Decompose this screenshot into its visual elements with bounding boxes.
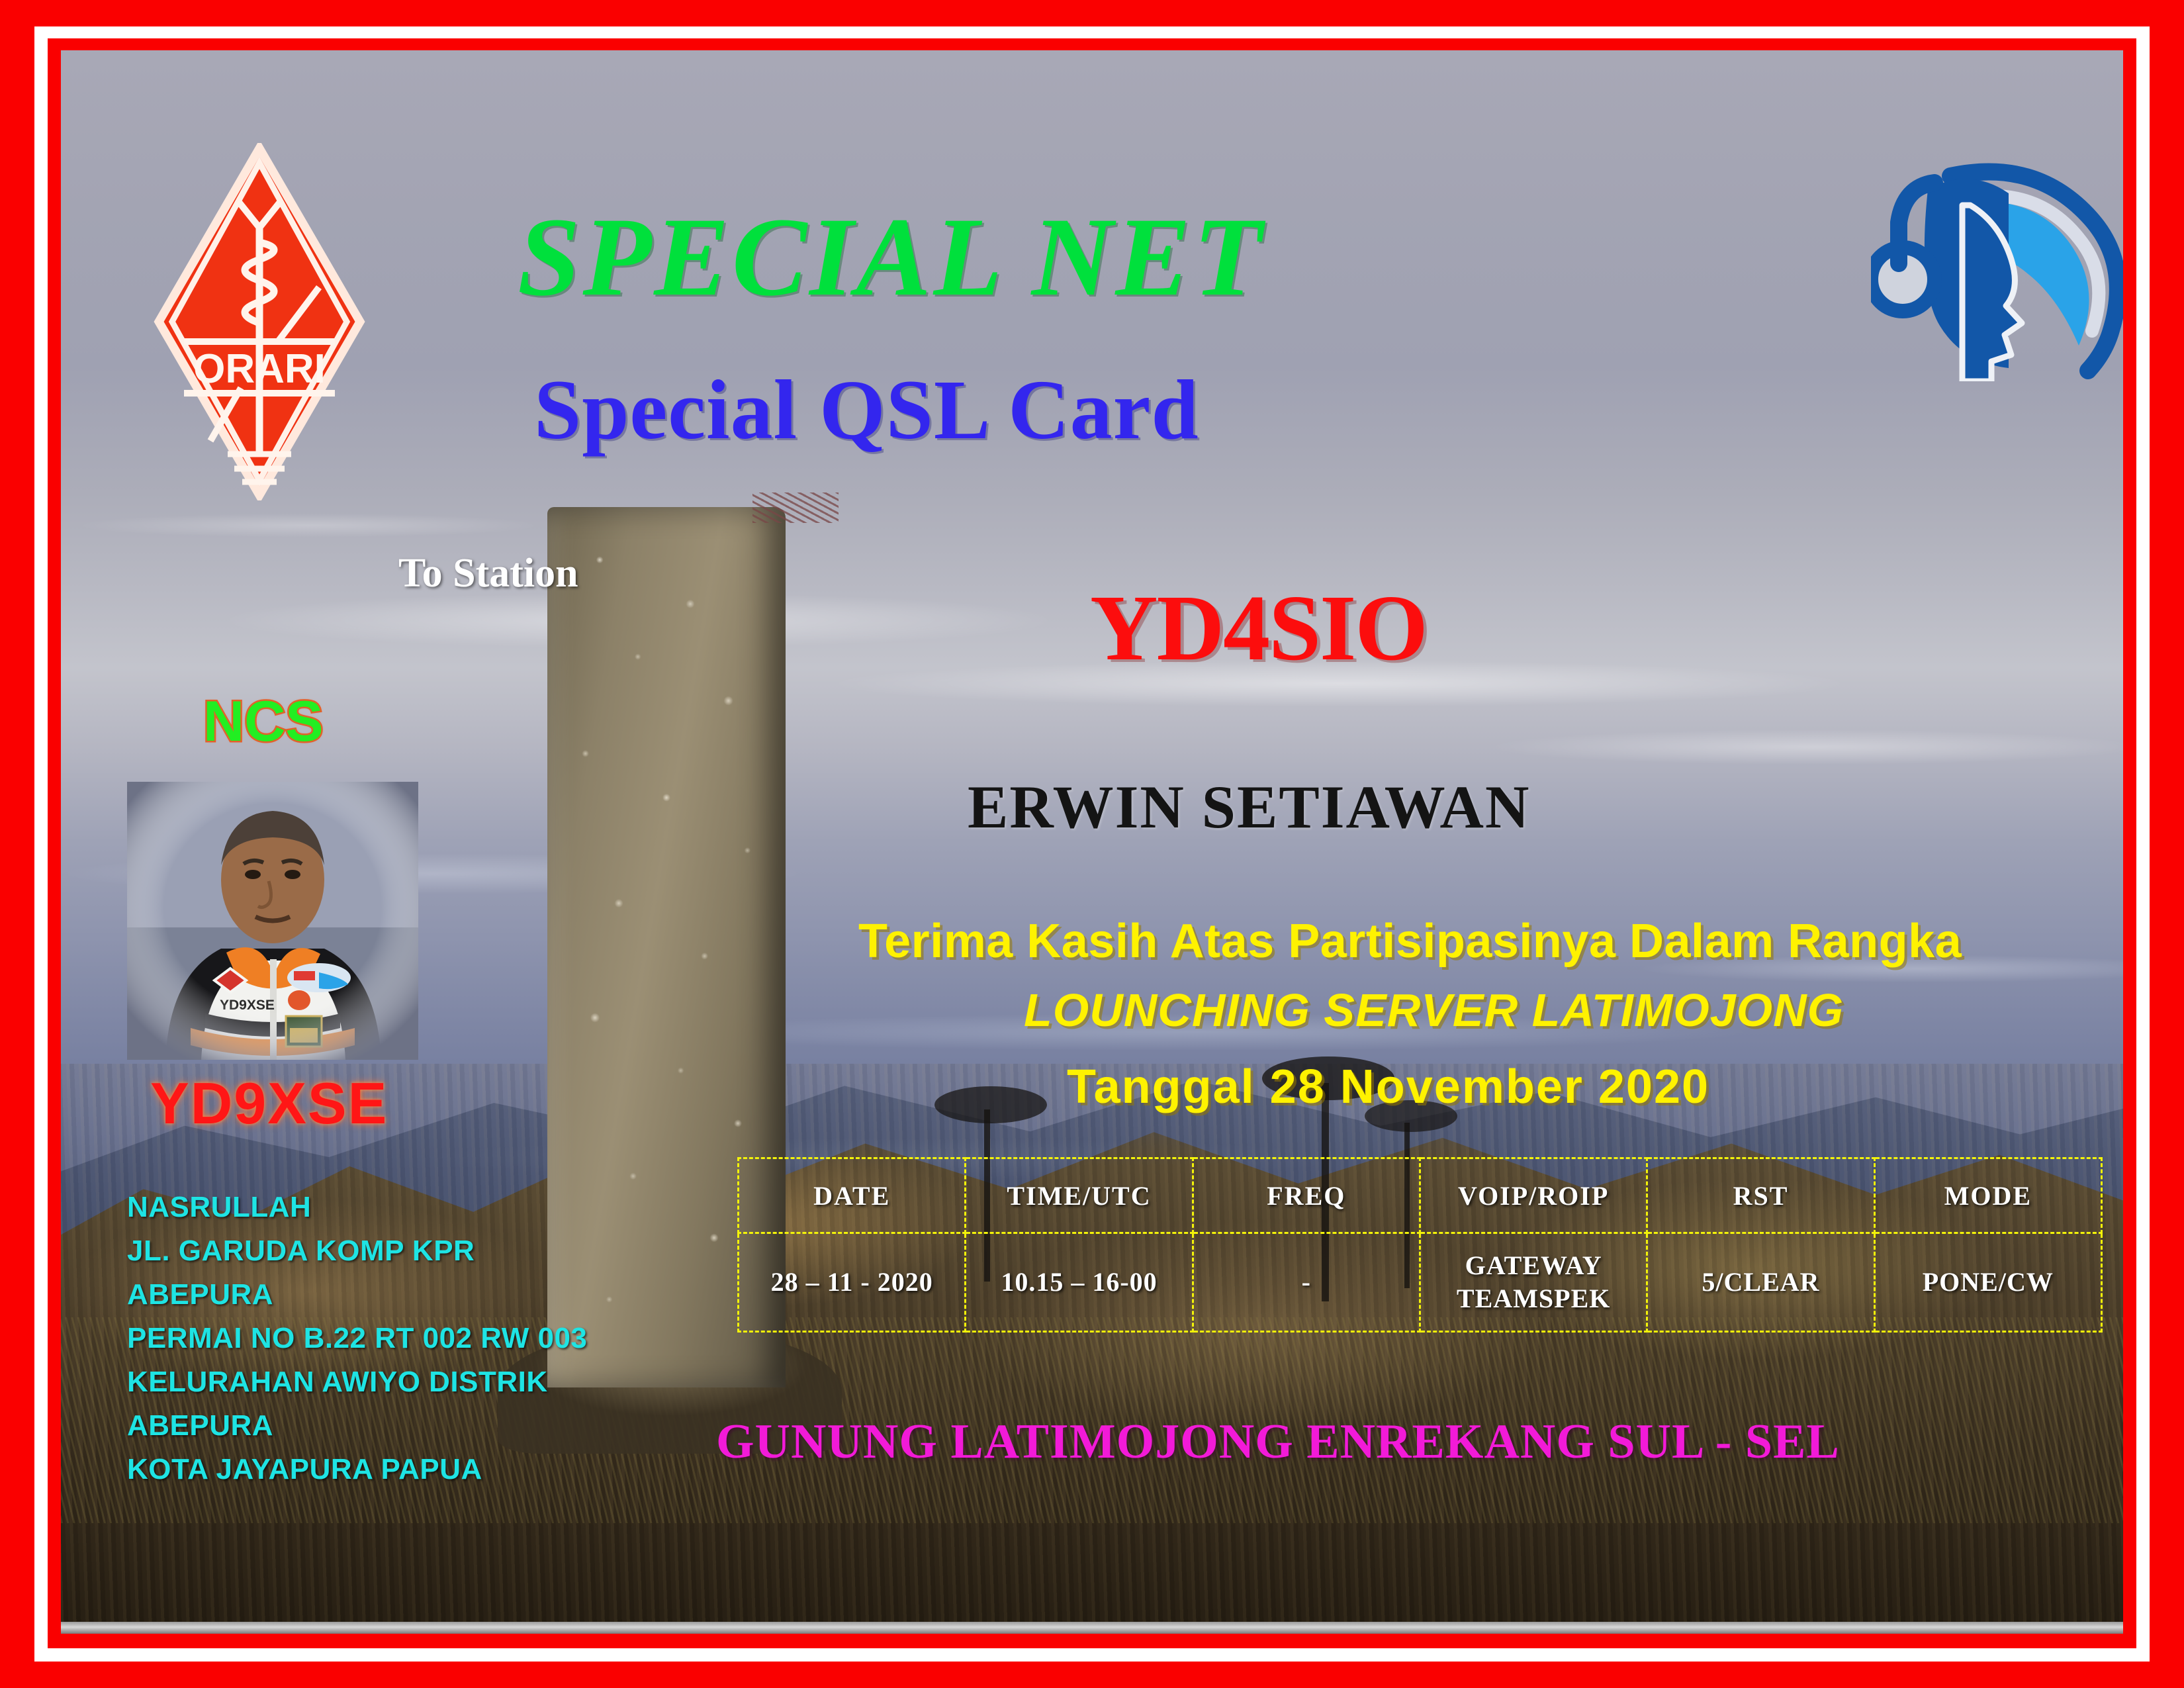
ncs-address-block: NASRULLAHJL. GARUDA KOMP KPRABEPURAPERMA… xyxy=(127,1186,683,1491)
qso-table-cell: - xyxy=(1193,1233,1420,1332)
qso-table-header-cell: DATE xyxy=(739,1158,966,1233)
qso-table-header-cell: VOIP/ROIP xyxy=(1420,1158,1647,1233)
thanks-line-1: Terima Kasih Atas Partisipasinya Dalam R… xyxy=(858,914,1962,968)
orari-logo-text: ORARI xyxy=(193,346,326,392)
address-line: ABEPURA xyxy=(127,1404,683,1448)
qso-table-header-cell: MODE xyxy=(1874,1158,2101,1233)
ncs-callsign: YD9XSE xyxy=(150,1070,388,1137)
qso-table-cell: 5/CLEAR xyxy=(1647,1233,1874,1332)
location-label: GUNUNG LATIMOJONG ENREKANG SUL - SEL xyxy=(716,1414,1840,1470)
cairn-wisp xyxy=(752,492,839,523)
station-callsign: YD4SIO xyxy=(1090,573,1427,682)
operator-name: ERWIN SETIAWAN xyxy=(968,772,1530,842)
orari-logo: ORARI xyxy=(154,143,365,500)
qso-table-header-row: DATETIME/UTCFREQVOIP/ROIPRSTMODE xyxy=(739,1158,2102,1233)
page-title: SPECIAL NET xyxy=(518,193,1265,322)
address-line: NASRULLAH xyxy=(127,1186,683,1229)
net-logo xyxy=(1871,150,2123,381)
qso-table-cell: PONE/CW xyxy=(1874,1233,2101,1332)
thanks-line-2: LOUNCHING SERVER LATIMOJONG xyxy=(1024,984,1844,1037)
bottom-gloss-strip xyxy=(61,1622,2123,1634)
tree-canopy xyxy=(934,1086,1047,1123)
address-line: KELURAHAN AWIYO DISTRIK xyxy=(127,1360,683,1404)
address-line: ABEPURA xyxy=(127,1273,683,1317)
qso-table-cell: GATEWAYTEAMSPEK xyxy=(1420,1233,1647,1332)
qso-table-header-cell: RST xyxy=(1647,1158,1874,1233)
address-line: PERMAI NO B.22 RT 002 RW 003 xyxy=(127,1317,683,1360)
qso-table-header-cell: TIME/UTC xyxy=(966,1158,1193,1233)
ncs-label: NCS xyxy=(203,689,324,755)
qso-table-row: 28 – 11 - 202010.15 – 16-00-GATEWAYTEAMS… xyxy=(739,1233,2102,1332)
qso-table-header-cell: FREQ xyxy=(1193,1158,1420,1233)
thanks-line-3: Tanggal 28 November 2020 xyxy=(1067,1060,1709,1114)
address-line: JL. GARUDA KOMP KPR xyxy=(127,1229,683,1273)
card-inner-red-border: ORARI SPECIAL NET Special QSL Card To St… xyxy=(48,38,2136,1648)
page-subtitle: Special QSL Card xyxy=(534,361,1199,459)
qso-table-cell: 10.15 – 16-00 xyxy=(966,1233,1193,1332)
qso-table: DATETIME/UTCFREQVOIP/ROIPRSTMODE28 – 11 … xyxy=(737,1157,2103,1333)
address-line: KOTA JAYAPURA PAPUA xyxy=(127,1448,683,1491)
card-white-border: ORARI SPECIAL NET Special QSL Card To St… xyxy=(34,26,2150,1662)
card-photo-canvas: ORARI SPECIAL NET Special QSL Card To St… xyxy=(61,50,2123,1634)
to-station-label: To Station xyxy=(398,550,578,597)
qso-table-cell: 28 – 11 - 2020 xyxy=(739,1233,966,1332)
operator-photo: YD9XSE xyxy=(127,782,418,1060)
qsl-card: ORARI SPECIAL NET Special QSL Card To St… xyxy=(0,0,2184,1688)
